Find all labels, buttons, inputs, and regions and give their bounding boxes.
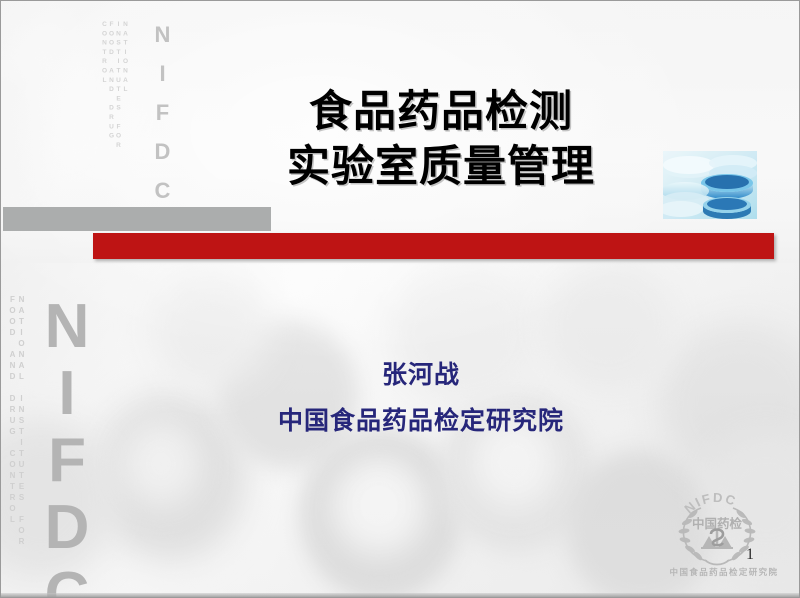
brand-letter-i: I — [146, 54, 180, 93]
gray-accent-bar — [3, 207, 271, 231]
nifdc-logo: NIFDC 中国药检 中国食品药品检定研究院 — [663, 488, 788, 588]
slide-number: 1 — [746, 546, 754, 564]
brand-acronym-vertical-top: N I F D C — [146, 15, 180, 210]
slide-title-line-2: 实验室质量管理 — [181, 140, 701, 195]
red-accent-bar — [93, 233, 774, 259]
slide-bottom-edge — [1, 593, 799, 597]
brand-fullname-vertical-top: NATIONAL INSTITUTES FOR FOOD AND DRUG CO… — [118, 21, 129, 186]
brand-acronym-vertical-large: N I F D C — [39, 293, 95, 598]
presenter-name: 张河战 — [141, 358, 701, 392]
presenter-block: 张河战 中国食品药品检定研究院 — [141, 358, 701, 440]
presentation-slide: NATIONAL INSTITUTES FOR FOOD AND DRUG CO… — [0, 0, 800, 598]
brand-letter-c: C — [146, 171, 180, 210]
brand-letter-d: D — [146, 132, 180, 171]
logo-arc-text: NIFDC — [681, 490, 739, 517]
brand-large-letter-d: D — [39, 494, 95, 561]
slide-title: 食品药品检测 实验室质量管理 — [181, 85, 701, 195]
brand-letter-f: F — [146, 93, 180, 132]
slide-title-line-1: 食品药品检测 — [181, 85, 701, 140]
brand-letter-n: N — [146, 15, 180, 54]
presenter-organization: 中国食品药品检定研究院 — [141, 402, 701, 440]
brand-large-letter-f: F — [39, 427, 95, 494]
logo-caption: 中国食品药品检定研究院 — [663, 566, 785, 578]
brand-large-letter-n: N — [39, 293, 95, 360]
brand-large-letter-i: I — [39, 360, 95, 427]
brand-fullname-vertical-left: NATIONAL INSTITUTES FOR FOOD AND DRUG CO… — [13, 295, 26, 573]
